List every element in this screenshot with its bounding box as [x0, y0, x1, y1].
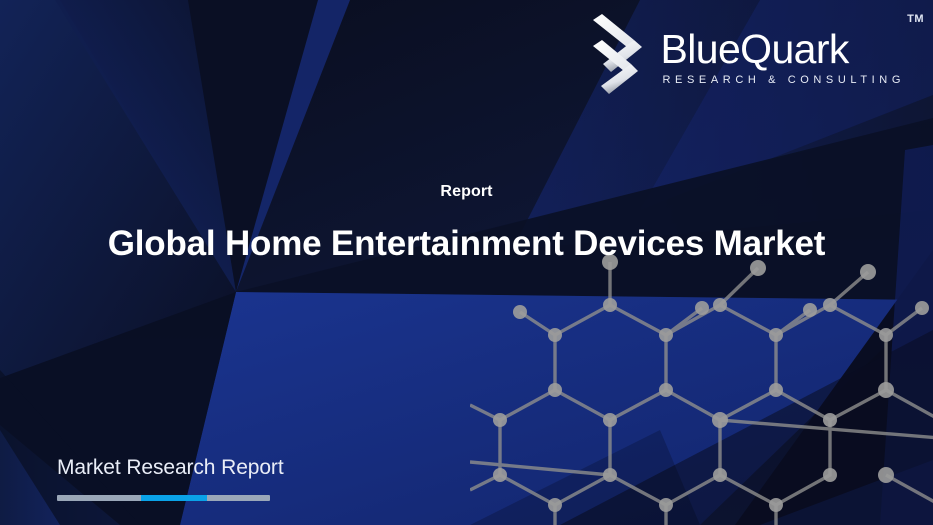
trademark-symbol: TM: [907, 13, 924, 25]
brand-wordmark: BlueQuark RESEARCH & CONSULTING: [661, 24, 905, 87]
accent-rule: [57, 495, 270, 501]
brand-name: BlueQuark: [661, 28, 849, 70]
footer-label: Market Research Report: [57, 456, 284, 480]
page-title: Global Home Entertainment Devices Market: [40, 223, 893, 265]
report-kicker: Report: [40, 183, 893, 201]
accent-rule-segment-middle: [141, 495, 207, 501]
accent-rule-segment-right: [207, 495, 270, 501]
title-block: Report Global Home Entertainment Devices…: [0, 183, 933, 265]
accent-rule-segment-left: [57, 495, 141, 501]
footer-block: Market Research Report: [57, 456, 284, 501]
brand-logo: BlueQuark RESEARCH & CONSULTING: [587, 14, 905, 96]
report-cover-page: TM BlueQuark RESEARCH & CONSULTING: [0, 0, 933, 525]
brand-tagline: RESEARCH & CONSULTING: [661, 73, 905, 87]
bluequark-chevron-logo-icon: [587, 14, 649, 96]
